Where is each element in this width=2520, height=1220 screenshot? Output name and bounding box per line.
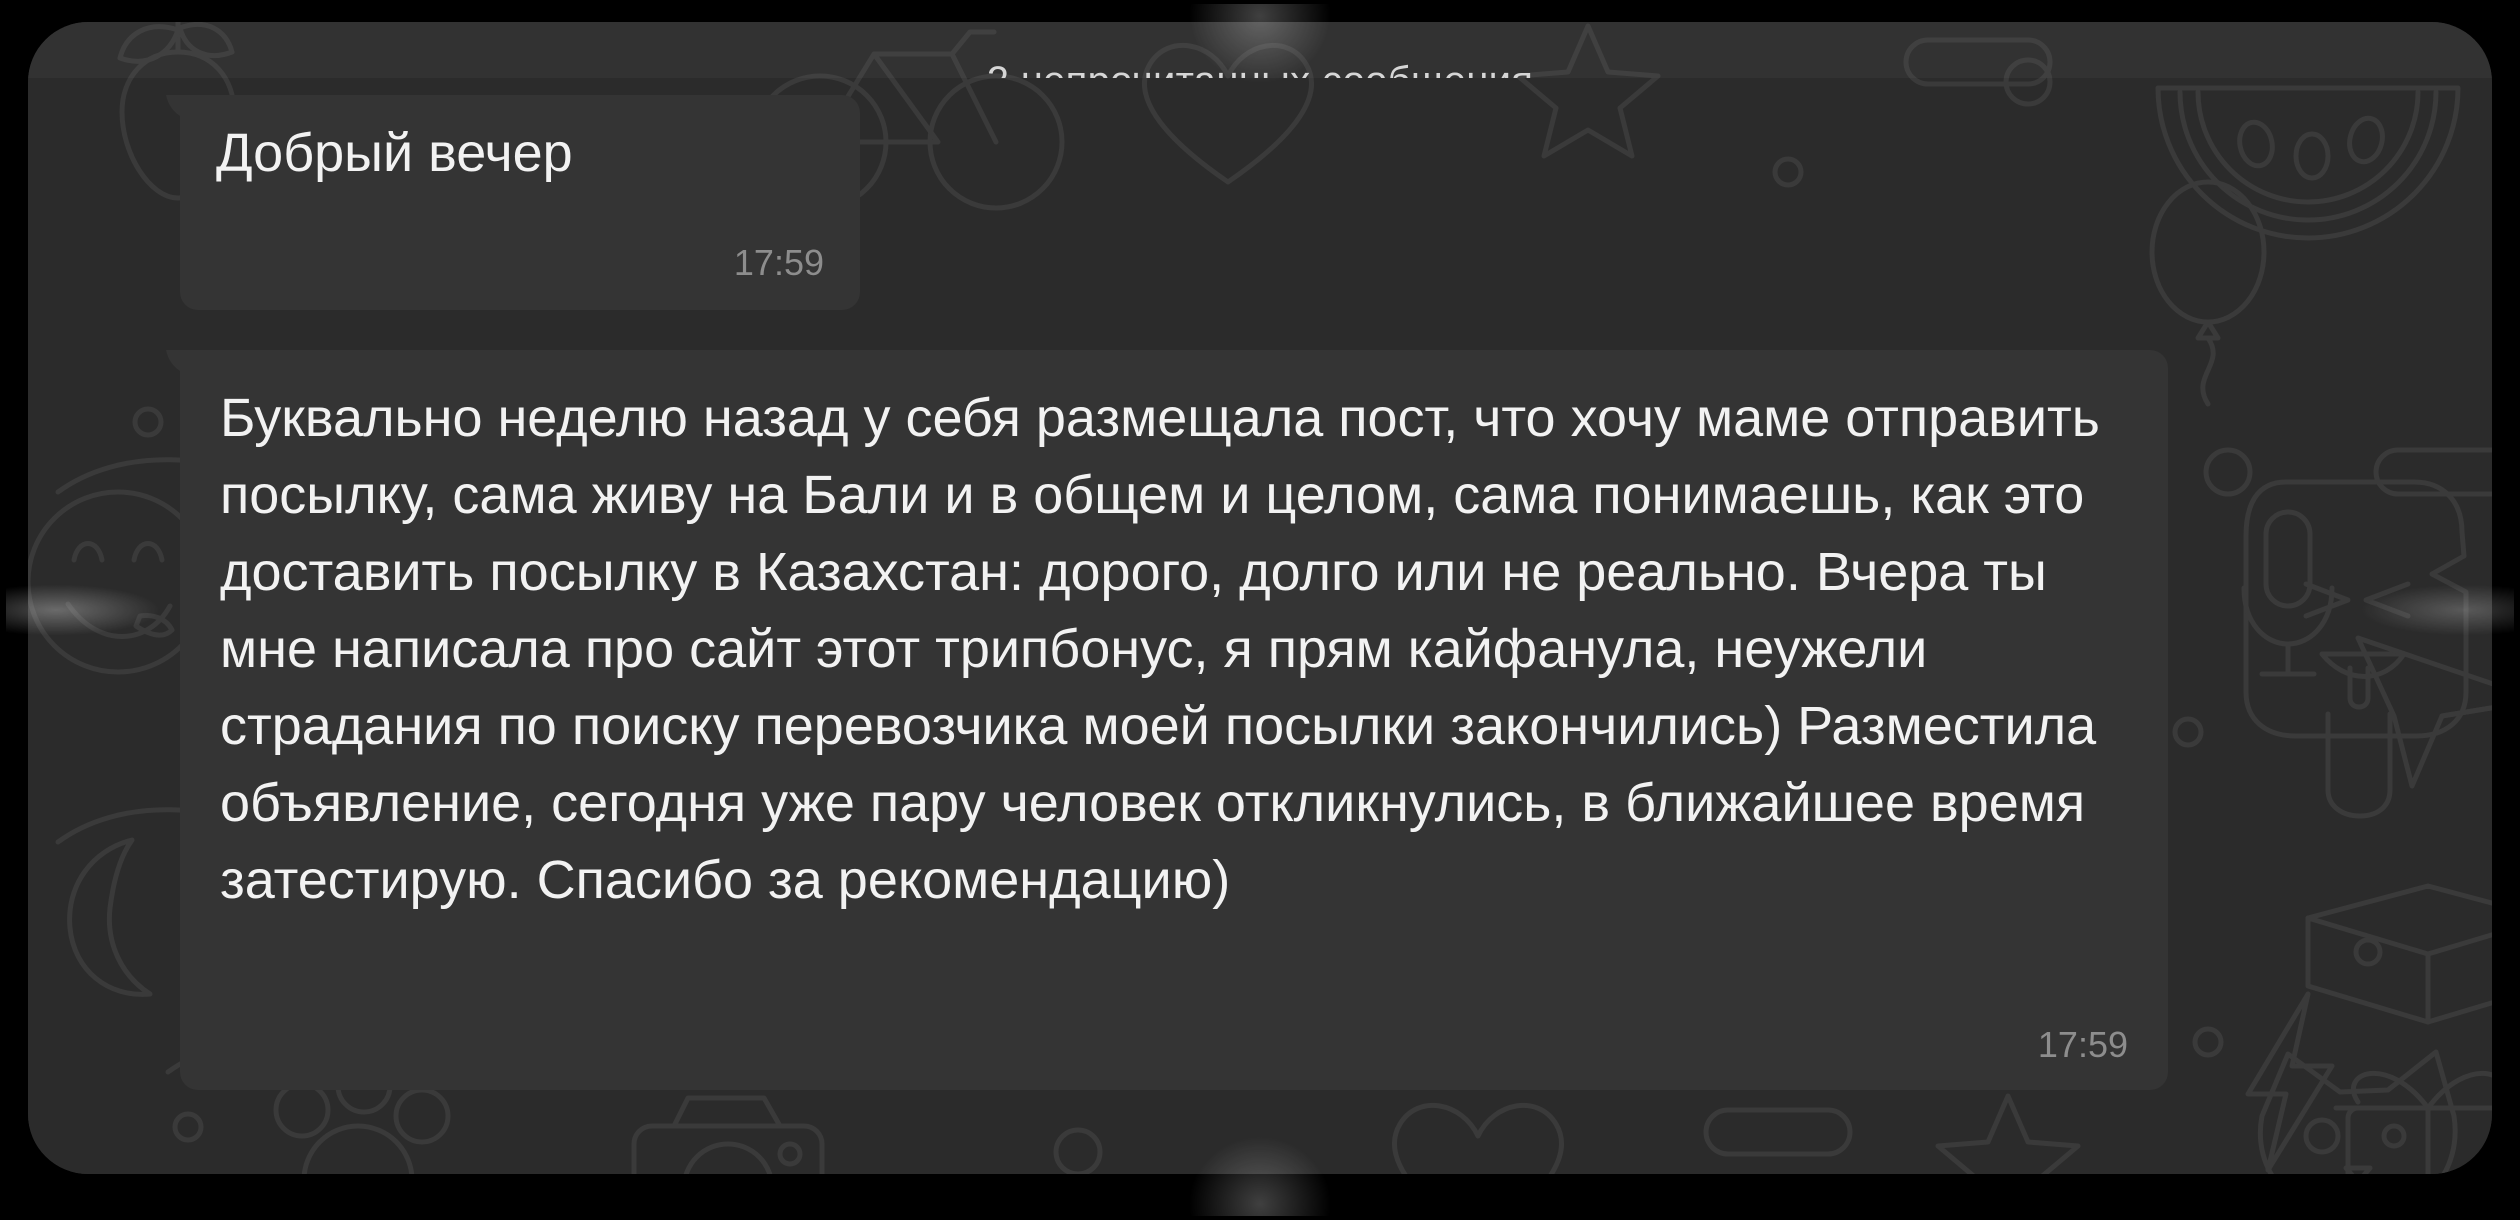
phone-frame: 2 непрочитанных сообщения Добрый вечер 1… bbox=[0, 0, 2520, 1220]
message-text: Добрый вечер bbox=[216, 121, 824, 185]
message-timestamp: 17:59 bbox=[734, 244, 824, 282]
message-bubble-incoming[interactable]: Буквально неделю назад у себя размещала … bbox=[180, 350, 2168, 1090]
message-list: Добрый вечер 17:59 Буквально неделю наза… bbox=[28, 22, 2492, 1174]
message-text: Буквально неделю назад у себя размещала … bbox=[220, 380, 2128, 919]
message-timestamp: 17:59 bbox=[2038, 1026, 2128, 1064]
chat-viewport: 2 непрочитанных сообщения Добрый вечер 1… bbox=[28, 22, 2492, 1174]
message-bubble-incoming[interactable]: Добрый вечер 17:59 bbox=[180, 95, 860, 310]
